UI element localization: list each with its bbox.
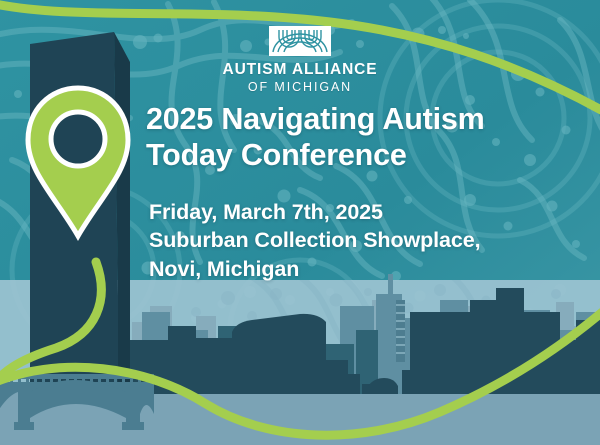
- headline-line-2: Today Conference: [146, 138, 485, 174]
- brand-logo-block: AUTISM ALLIANCE OF MICHIGAN: [0, 26, 600, 94]
- tower-ladder-detail: [396, 300, 405, 362]
- headline-line-1: 2025 Navigating Autism: [146, 102, 485, 138]
- event-details: Friday, March 7th, 2025 Suburban Collect…: [149, 198, 480, 283]
- conference-poster: AUTISM ALLIANCE OF MICHIGAN 2025 Navigat…: [0, 0, 600, 445]
- brand-subtitle: OF MICHIGAN: [0, 80, 600, 94]
- page-title: 2025 Navigating Autism Today Conference: [146, 102, 485, 174]
- event-city: Novi, Michigan: [149, 255, 480, 283]
- event-venue: Suburban Collection Showplace,: [149, 226, 480, 254]
- event-date: Friday, March 7th, 2025: [149, 198, 480, 226]
- arches-wave-logo-icon: [269, 26, 331, 56]
- brand-name: AUTISM ALLIANCE: [0, 62, 600, 78]
